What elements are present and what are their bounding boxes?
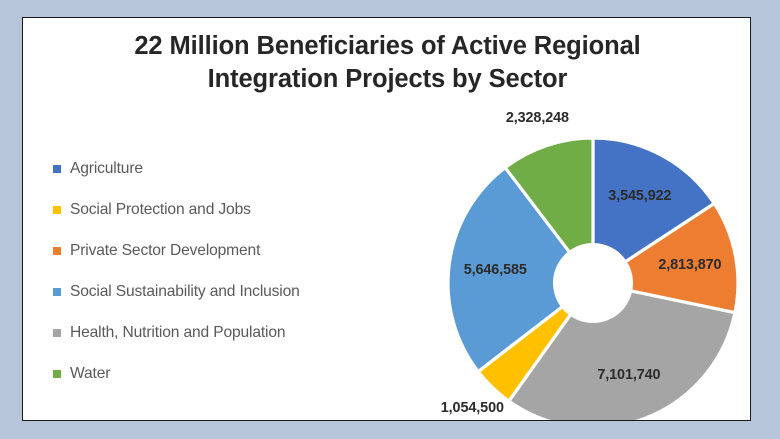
- legend-item[interactable]: Water: [53, 353, 393, 394]
- pie-slice-group: [448, 138, 738, 421]
- pie-data-label: 2,813,870: [658, 257, 721, 273]
- pie-data-label: 7,101,740: [597, 367, 660, 383]
- legend-swatch-icon: [53, 165, 61, 173]
- legend-swatch-icon: [53, 288, 61, 296]
- slide-panel: 22 Million Beneficiaries of Active Regio…: [22, 17, 751, 421]
- pie-chart: 3,545,9222,813,8707,101,7401,054,5005,64…: [378, 18, 751, 421]
- legend-item-label: Social Sustainability and Inclusion: [70, 283, 300, 301]
- legend-item-label: Health, Nutrition and Population: [70, 324, 285, 342]
- pie-data-label: 3,545,922: [608, 188, 671, 204]
- legend-item-label: Social Protection and Jobs: [70, 201, 251, 219]
- legend-swatch-icon: [53, 329, 61, 337]
- legend-item[interactable]: Health, Nutrition and Population: [53, 312, 393, 353]
- pie-data-label: 1,054,500: [441, 400, 504, 416]
- pie-data-label: 2,328,248: [506, 110, 569, 126]
- slide-frame: 22 Million Beneficiaries of Active Regio…: [0, 0, 780, 439]
- legend-item[interactable]: Social Sustainability and Inclusion: [53, 271, 393, 312]
- chart-legend: AgricultureSocial Protection and JobsPri…: [53, 148, 393, 394]
- legend-item[interactable]: Social Protection and Jobs: [53, 189, 393, 230]
- legend-swatch-icon: [53, 206, 61, 214]
- legend-item[interactable]: Agriculture: [53, 148, 393, 189]
- legend-swatch-icon: [53, 247, 61, 255]
- legend-item-label: Private Sector Development: [70, 242, 260, 260]
- pie-data-label: 5,646,585: [464, 262, 527, 278]
- legend-swatch-icon: [53, 370, 61, 378]
- legend-item-label: Water: [70, 365, 110, 383]
- pie-chart-svg: [378, 18, 751, 421]
- legend-item[interactable]: Private Sector Development: [53, 230, 393, 271]
- legend-item-label: Agriculture: [70, 160, 143, 178]
